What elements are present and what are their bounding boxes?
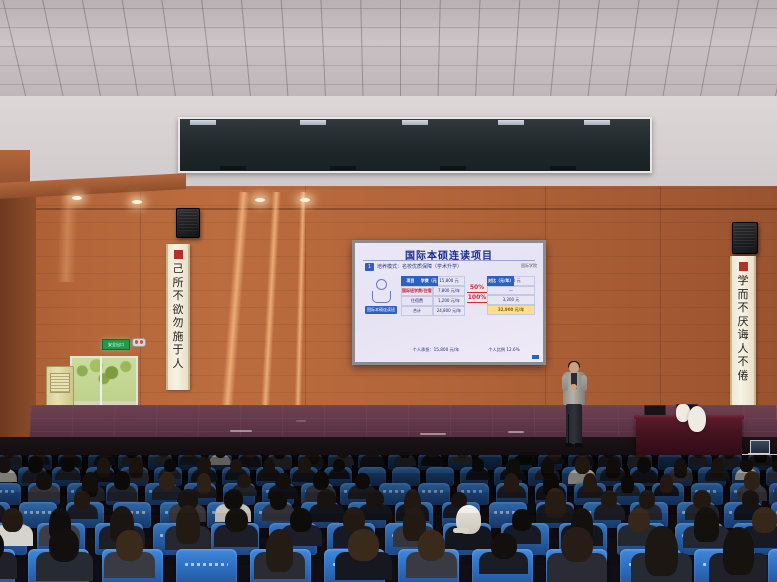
slide-table-cell: 合计 (401, 306, 433, 316)
banner-seal-icon (174, 250, 183, 259)
slide-subtitle-row: 1 培养模式：名校优质保障（学术升学） (365, 262, 535, 271)
presenter-speaker (560, 362, 588, 448)
auditorium-seat[interactable] (768, 549, 777, 582)
slide-table-row: 3,200 元 (487, 295, 535, 305)
slide-table-row: 住宿费1,200 元/年 (401, 296, 465, 306)
slide-col-header: 学费（元/年） (420, 276, 439, 286)
presenter-shoe (575, 443, 583, 447)
banner-seal-icon (739, 262, 748, 271)
presenter-arm-left (562, 375, 568, 391)
slide-middle-annotations: 50%100% (467, 283, 487, 303)
slide-col-header: 项目 (401, 276, 420, 286)
audience-person-head (266, 529, 293, 572)
slide-corner-mark (532, 355, 539, 359)
exit-sign: 安全出口 (102, 339, 130, 350)
calligraphy-banner-left: 己所不欲勿施于人 (166, 244, 190, 390)
audience-person-head (348, 529, 378, 561)
slide-footer-right: 个人比例 12.6% (471, 347, 537, 353)
presenter-shoe (565, 443, 573, 447)
outdoor-foliage (72, 358, 136, 401)
slide-footer-left: 个人承担：15,800 元/年 (401, 347, 471, 353)
slide-table-row: 32,900 元/年 (487, 305, 535, 315)
audience-person-head (418, 530, 445, 561)
projection-screen[interactable]: 国际本硕连读项目 1 培养模式：名校优质保障（学术升学） 国际学院 国际本硕连读… (352, 240, 546, 365)
student-audience (0, 455, 777, 582)
slide-table-row: 国际班学费/住宿费7,800 元/年 (401, 286, 465, 296)
auditorium-scene: 己所不欲勿施于人 学而不厌诲人不倦 国际本硕连读项目 1 培养模式：名校优质保障… (0, 0, 777, 582)
wall-downlight (300, 198, 310, 202)
slide-table-row: — (487, 286, 535, 295)
slide-badge: 1 (365, 263, 374, 271)
figure-head-icon (376, 279, 387, 290)
audience-person-head (491, 533, 517, 560)
audience-person-head (645, 526, 677, 576)
wall-downlight (255, 198, 265, 202)
slide-table-cell: 国际班学费/住宿费 (401, 286, 433, 296)
audience-person-head (723, 527, 754, 574)
slide-percent-annotation: 50% (467, 283, 487, 293)
slide-table-row: 合计24,800 元/年 (401, 306, 465, 316)
auditorium-seat[interactable] (176, 549, 237, 582)
slide-table-cell: 7,800 元/年 (433, 286, 465, 296)
slide-table-header-row: 对比（元/年） (487, 276, 514, 286)
loudspeaker-right (732, 222, 758, 254)
slide-figure-illustration: 国际本硕连读班 (365, 279, 397, 314)
slide-person-tag: 国际本硕连读班 (365, 306, 397, 314)
presenter-hands (570, 384, 577, 390)
slide-table-right: 对比（元/年）26,800 元—3,200 元32,900 元/年 (487, 276, 535, 315)
wall-downlight (72, 196, 82, 200)
slide-percent-annotation: 100% (467, 293, 487, 303)
slide-surface: 国际本硕连读项目 1 培养模式：名校优质保障（学术升学） 国际学院 国际本硕连读… (355, 243, 543, 362)
audience-person-shoulders (0, 552, 17, 578)
slide-table-cell: 1,200 元/年 (433, 296, 465, 306)
slide-subtitle: 培养模式：名校优质保障（学术升学） (377, 263, 462, 270)
slide-table-header-row: 项目学费（元/年） (401, 276, 438, 286)
slide-logo: 国际学院 (521, 263, 537, 269)
slide-table-cell: — (487, 286, 535, 295)
slide-table-cell: 32,900 元/年 (487, 305, 535, 315)
figure-body-icon (372, 291, 391, 303)
banner-right-text: 学而不厌诲人不倦 (738, 274, 749, 382)
white-draped-cloth (688, 406, 706, 432)
audience-person-head (116, 530, 143, 561)
slide-col-header: 对比（元/年） (487, 276, 514, 286)
slide-table-cell: 住宿费 (401, 296, 433, 306)
audience-person-head (561, 527, 593, 563)
slide-table-cell: 24,800 元/年 (433, 306, 465, 316)
slide-title-rule (363, 260, 535, 261)
slide-table-cell: 3,200 元 (487, 295, 535, 305)
slide-table-left: 项目学费（元/年）学费15,800 元国际班学费/住宿费7,800 元/年住宿费… (401, 276, 465, 316)
calligraphy-banner-right: 学而不厌诲人不倦 (730, 256, 756, 412)
upper-dark-window-band (178, 117, 652, 173)
loudspeaker-left (176, 208, 200, 238)
emergency-light-icon (132, 338, 146, 347)
banner-left-text: 己所不欲勿施于人 (173, 262, 184, 370)
audience-person-head (49, 528, 79, 561)
presenter-arm-right (581, 375, 587, 391)
wall-downlight (132, 200, 142, 204)
